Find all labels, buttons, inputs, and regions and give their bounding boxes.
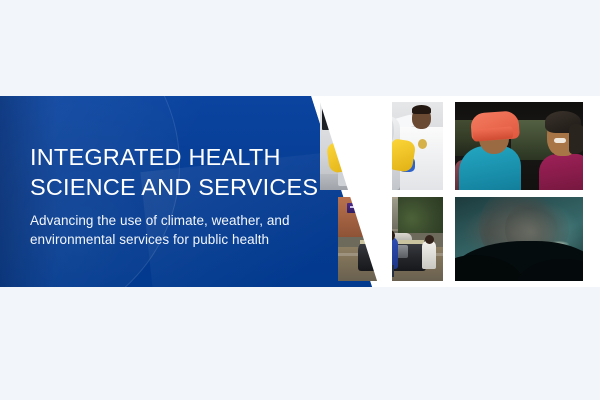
man-in-white-head [425, 235, 434, 244]
flood-trees [398, 197, 443, 233]
banner-subtitle: Advancing the use of climate, weather, a… [30, 212, 320, 249]
woman-right-hair-side [569, 124, 583, 154]
hero-banner: INTEGRATED HEALTH SCIENCE AND SERVICES A… [0, 96, 600, 287]
officer-hair [412, 105, 431, 114]
woman-right-magenta-blouse [539, 154, 583, 190]
woman-right-smile [554, 138, 566, 143]
banner-text-block: INTEGRATED HEALTH SCIENCE AND SERVICES A… [30, 142, 320, 249]
banner-title: INTEGRATED HEALTH SCIENCE AND SERVICES [30, 142, 320, 202]
photo-wildfire-dusk [455, 197, 583, 281]
officer-badge [418, 139, 427, 149]
man-in-white-shirt [422, 241, 436, 269]
photo-two-women [455, 102, 583, 190]
